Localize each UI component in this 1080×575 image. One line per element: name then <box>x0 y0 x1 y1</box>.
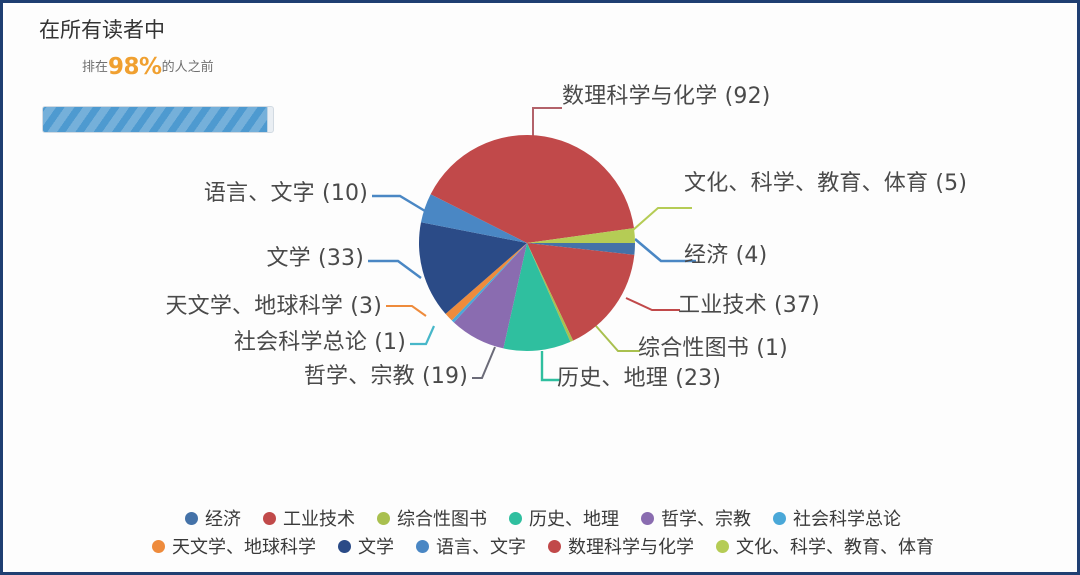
pie-slices <box>419 135 635 351</box>
callout-literature: 文学 (33) <box>266 246 364 272</box>
legend-item[interactable]: 历史、地理 <box>509 505 619 531</box>
legend-color-dot-icon <box>416 540 429 553</box>
callout-social-science-overview: 社会科学总论 (1) <box>234 330 406 356</box>
legend-row-1: 经济工业技术综合性图书历史、地理哲学、宗教社会科学总论 <box>6 504 1080 532</box>
legend-item[interactable]: 文化、科学、教育、体育 <box>716 533 934 559</box>
reader-stats-card: 在所有读者中 排在98%的人之前 <box>0 0 1080 575</box>
legend-item[interactable]: 数理科学与化学 <box>548 533 694 559</box>
callout-economy: 经济 (4) <box>684 243 767 269</box>
legend-item-label: 文化、科学、教育、体育 <box>736 533 934 559</box>
legend-item[interactable]: 天文学、地球科学 <box>152 533 316 559</box>
card-inner: 在所有读者中 排在98%的人之前 <box>6 6 1080 575</box>
pie-chart-svg <box>6 6 1080 496</box>
legend-color-dot-icon <box>263 512 276 525</box>
legend-color-dot-icon <box>716 540 729 553</box>
legend-color-dot-icon <box>548 540 561 553</box>
legend-color-dot-icon <box>773 512 786 525</box>
legend-item[interactable]: 语言、文字 <box>416 533 526 559</box>
callout-math-science-chemistry: 数理科学与化学 (92) <box>562 84 771 110</box>
legend-color-dot-icon <box>185 512 198 525</box>
legend-item[interactable]: 哲学、宗教 <box>641 505 751 531</box>
legend-item-label: 经济 <box>205 505 241 531</box>
legend-item-label: 哲学、宗教 <box>661 505 751 531</box>
legend-item[interactable]: 社会科学总论 <box>773 505 901 531</box>
legend-item[interactable]: 综合性图书 <box>377 505 487 531</box>
legend-item-label: 工业技术 <box>283 505 355 531</box>
legend-item-label: 天文学、地球科学 <box>172 533 316 559</box>
legend-item-label: 综合性图书 <box>397 505 487 531</box>
legend-item-label: 社会科学总论 <box>793 505 901 531</box>
callout-philosophy-religion: 哲学、宗教 (19) <box>304 364 468 390</box>
chart-legend: 经济工业技术综合性图书历史、地理哲学、宗教社会科学总论 天文学、地球科学文学语言… <box>6 504 1080 560</box>
callout-history-geography: 历史、地理 (23) <box>557 366 721 392</box>
legend-item-label: 语言、文字 <box>436 533 526 559</box>
legend-item-label: 文学 <box>358 533 394 559</box>
legend-color-dot-icon <box>152 540 165 553</box>
legend-row-2: 天文学、地球科学文学语言、文字数理科学与化学文化、科学、教育、体育 <box>6 532 1080 560</box>
callout-astronomy-earth-science: 天文学、地球科学 (3) <box>165 294 382 320</box>
legend-color-dot-icon <box>641 512 654 525</box>
callout-industrial-technology: 工业技术 (37) <box>678 293 820 319</box>
legend-item[interactable]: 经济 <box>185 505 241 531</box>
legend-item[interactable]: 文学 <box>338 533 394 559</box>
legend-color-dot-icon <box>377 512 390 525</box>
legend-color-dot-icon <box>338 540 351 553</box>
legend-color-dot-icon <box>509 512 522 525</box>
pie-chart-area: 数理科学与化学 (92) 文化、科学、教育、体育 (5) 经济 (4) 工业技术… <box>6 6 1080 496</box>
legend-item-label: 历史、地理 <box>529 505 619 531</box>
callout-language-writing: 语言、文字 (10) <box>204 181 368 207</box>
callout-culture-education-sports: 文化、科学、教育、体育 (5) <box>684 171 1004 197</box>
legend-item[interactable]: 工业技术 <box>263 505 355 531</box>
legend-item-label: 数理科学与化学 <box>568 533 694 559</box>
callout-general-books: 综合性图书 (1) <box>638 336 788 362</box>
